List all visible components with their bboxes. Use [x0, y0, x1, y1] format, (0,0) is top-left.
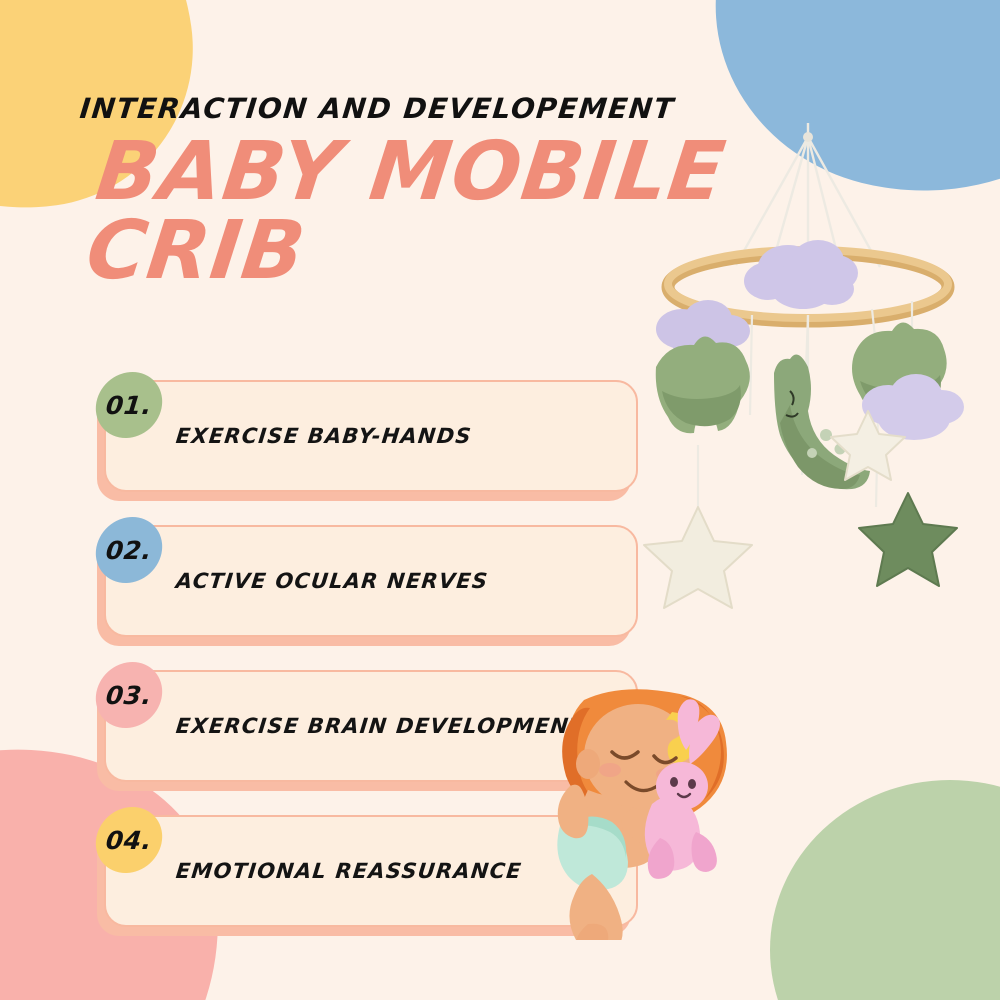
poster-canvas: INTERACTION AND DEVELOPEMENT BABY MOBILE…	[0, 0, 1000, 1000]
mobile-knot	[803, 132, 813, 142]
eyebrow-text: INTERACTION AND DEVELOPEMENT	[78, 92, 676, 125]
benefit-label: EXERCISE BABY-HANDS	[175, 424, 473, 448]
plush-dino-left	[656, 336, 750, 433]
plush-star-green-right	[859, 493, 957, 586]
plush-star-cream-left	[644, 507, 752, 608]
list-item[interactable]: 02. ACTIVE OCULAR NERVES	[96, 517, 644, 662]
mobile-svg	[640, 115, 1000, 635]
sleeping-baby-illustration	[530, 678, 790, 938]
baby-mobile-illustration	[640, 115, 1000, 635]
page-title-line-2: CRIB	[82, 212, 732, 291]
bottom-right-blob	[770, 780, 1000, 1000]
baby-svg	[530, 678, 790, 940]
benefit-label: ACTIVE OCULAR NERVES	[175, 569, 490, 593]
benefit-label: EMOTIONAL REASSURANCE	[175, 859, 523, 883]
list-item[interactable]: 01. EXERCISE BABY-HANDS	[96, 372, 644, 517]
benefit-label: EXERCISE BRAIN DEVELOPMENT	[175, 714, 586, 738]
